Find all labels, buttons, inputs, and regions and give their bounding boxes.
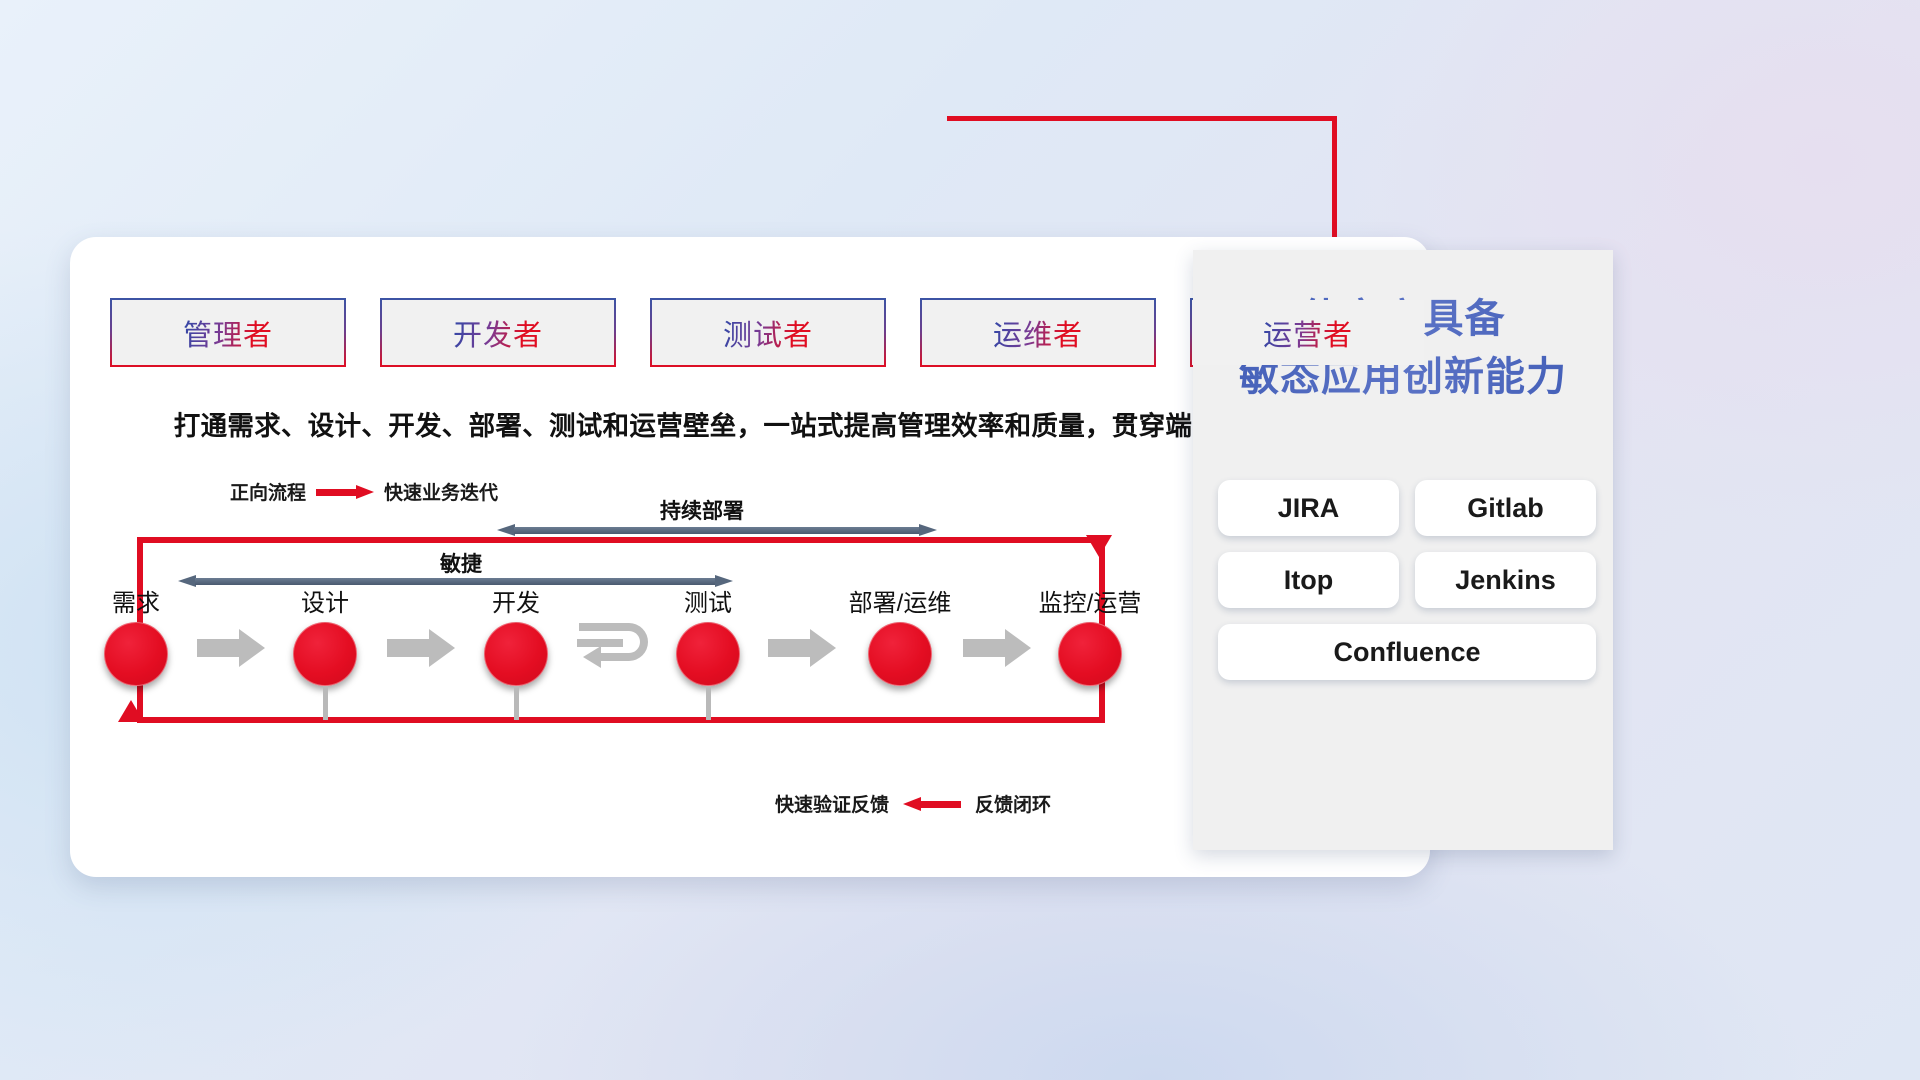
node-circle (484, 622, 548, 686)
node-label: 开发 (456, 583, 576, 618)
node-circle (868, 622, 932, 686)
node-label: 部署/运维 (840, 583, 960, 618)
tool-list: JIRA Gitlab Itop Jenkins Confluence (1218, 480, 1596, 680)
role-label: 开发者 (453, 312, 543, 354)
arrow-left-red-icon (903, 797, 961, 811)
role-label: 管理者 (183, 312, 273, 354)
continuous-deployment-label: 持续部署 (650, 495, 754, 525)
node-circle (676, 622, 740, 686)
chevron-arrow-icon (768, 627, 838, 669)
chevron-arrow-icon (963, 627, 1033, 669)
tool-jenkins[interactable]: Jenkins (1415, 552, 1596, 608)
arrow-head-right-icon (919, 524, 937, 536)
feedback-to-label: 快速验证反馈 (775, 790, 889, 817)
loop-arrow-down-icon (1086, 535, 1112, 557)
role-label: 运营者 (1263, 312, 1353, 354)
pipeline-node-design[interactable]: 设计 (265, 583, 385, 720)
loop-arrow-up-icon (118, 700, 144, 722)
arrow-right-red-icon (316, 485, 374, 499)
node-stem (514, 686, 519, 720)
node-stem (323, 686, 328, 720)
role-box-developer[interactable]: 开发者 (382, 300, 614, 365)
arrow-head-left-icon (497, 524, 515, 536)
tool-label: JIRA (1278, 493, 1340, 524)
node-label: 需求 (76, 583, 196, 618)
forward-flow-annotation: 正向流程 快速业务迭代 (230, 478, 498, 505)
agile-label: 敏捷 (430, 548, 492, 578)
node-stem (706, 686, 711, 720)
node-circle (1058, 622, 1122, 686)
role-label: 测试者 (723, 312, 813, 354)
arrow-bar (514, 527, 920, 534)
role-box-row: 管理者 开发者 测试者 运维者 运营者 (112, 300, 1424, 365)
role-box-ops[interactable]: 运维者 (922, 300, 1154, 365)
node-circle (293, 622, 357, 686)
node-label: 监控/运营 (1030, 583, 1150, 618)
node-label: 设计 (265, 583, 385, 618)
tool-label: Gitlab (1467, 493, 1544, 524)
diagram-stage: 管理者 开发者 测试者 运维者 运营者 打通需求、设计、开发、部署、测试和运营壁… (0, 0, 1920, 1080)
feedback-loop-annotation: 快速验证反馈 反馈闭环 (775, 790, 1051, 817)
pipeline-node-requirements[interactable]: 需求 (76, 583, 196, 686)
tool-label: Itop (1284, 565, 1333, 596)
chevron-arrow-icon (387, 627, 457, 669)
role-label: 运维者 (993, 312, 1083, 354)
role-box-operations[interactable]: 运营者 (1192, 300, 1424, 365)
pipeline-node-deploy-ops[interactable]: 部署/运维 (840, 583, 960, 686)
role-box-manager[interactable]: 管理者 (112, 300, 344, 365)
forward-flow-from-label: 正向流程 (230, 478, 306, 505)
tool-confluence[interactable]: Confluence (1218, 624, 1596, 680)
feedback-from-label: 反馈闭环 (975, 790, 1051, 817)
tool-gitlab[interactable]: Gitlab (1415, 480, 1596, 536)
tool-label: Jenkins (1455, 565, 1556, 596)
pipeline-node-development[interactable]: 开发 (456, 583, 576, 720)
tool-label: Confluence (1333, 637, 1480, 668)
tool-itop[interactable]: Itop (1218, 552, 1399, 608)
role-box-tester[interactable]: 测试者 (652, 300, 884, 365)
chevron-arrow-icon (197, 627, 267, 669)
node-label: 测试 (648, 583, 768, 618)
pipeline-node-monitor-operations[interactable]: 监控/运营 (1030, 583, 1150, 686)
pipeline-node-testing[interactable]: 测试 (648, 583, 768, 720)
forward-flow-to-label: 快速业务迭代 (384, 478, 498, 505)
continuous-deployment-arrow (497, 524, 937, 537)
tool-jira[interactable]: JIRA (1218, 480, 1399, 536)
node-circle (104, 622, 168, 686)
